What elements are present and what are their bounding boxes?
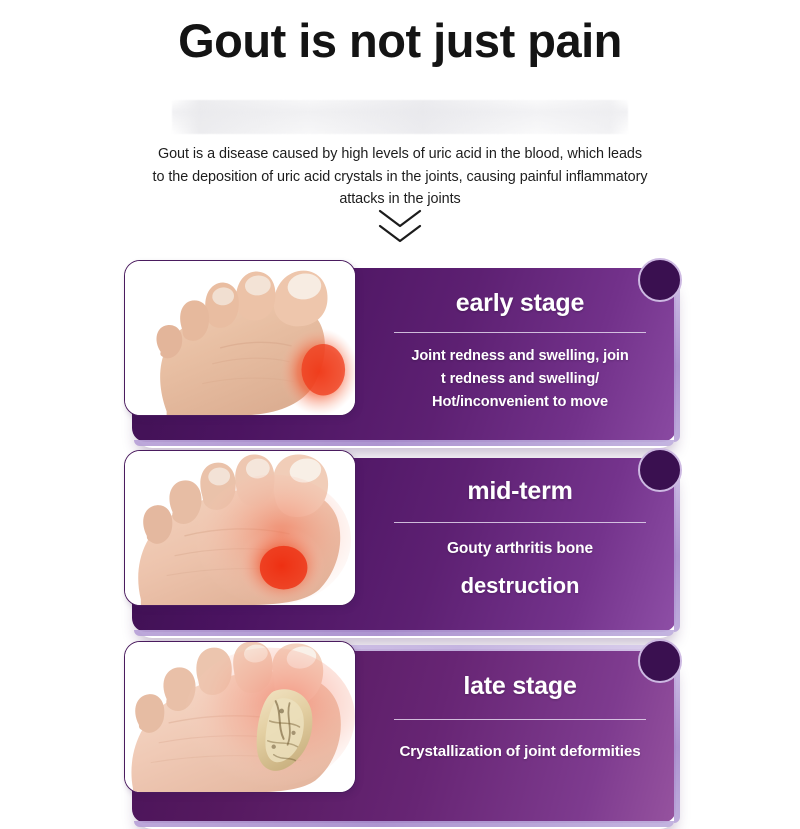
page-description: Gout is a disease caused by high levels … [152,143,648,211]
stage-body: destruction [386,574,654,598]
stage-body-line: Hot/inconvenient to move [432,394,608,410]
corner-circle-decoration [638,448,682,492]
stage-body-line: t redness and swelling/ [441,371,599,387]
stage-title: early stage [456,290,584,318]
page-title: Gout is not just pain [0,0,800,67]
corner-circle-decoration [638,258,682,302]
stage-divider [394,332,646,334]
stage-body: Joint redness and swelling, join t redne… [386,345,654,414]
stage-text-column: mid-term Gouty arthritis bone destructio… [372,458,668,632]
foot-photo-late [124,641,356,793]
panel-edge-right [674,274,680,442]
infographic-page: Gout is not just pain Gout is a disease … [0,0,800,800]
stage-divider [394,522,646,524]
corner-circle-decoration [638,639,682,683]
panel-edge-right [674,464,680,632]
stage-body: Crystallization of joint deformities [377,740,663,763]
ghost-text-artifact [172,100,628,134]
panel-edge-right [674,655,680,823]
double-chevron-down-icon [0,206,800,248]
foot-photo-mid-term [124,450,356,606]
stage-divider [394,719,646,721]
stage-text-column: late stage Crystallization of joint defo… [372,649,668,823]
stage-body-line: Joint redness and swelling, join [411,348,628,364]
foot-photo-early [124,260,356,416]
stage-title: mid-term [467,478,572,506]
page-description-text: Gout is a disease caused by high levels … [153,146,648,207]
stage-text-column: early stage Joint redness and swelling, … [372,268,668,442]
stage-body: Gouty arthritis bone [386,537,654,560]
stage-title: late stage [463,673,576,701]
